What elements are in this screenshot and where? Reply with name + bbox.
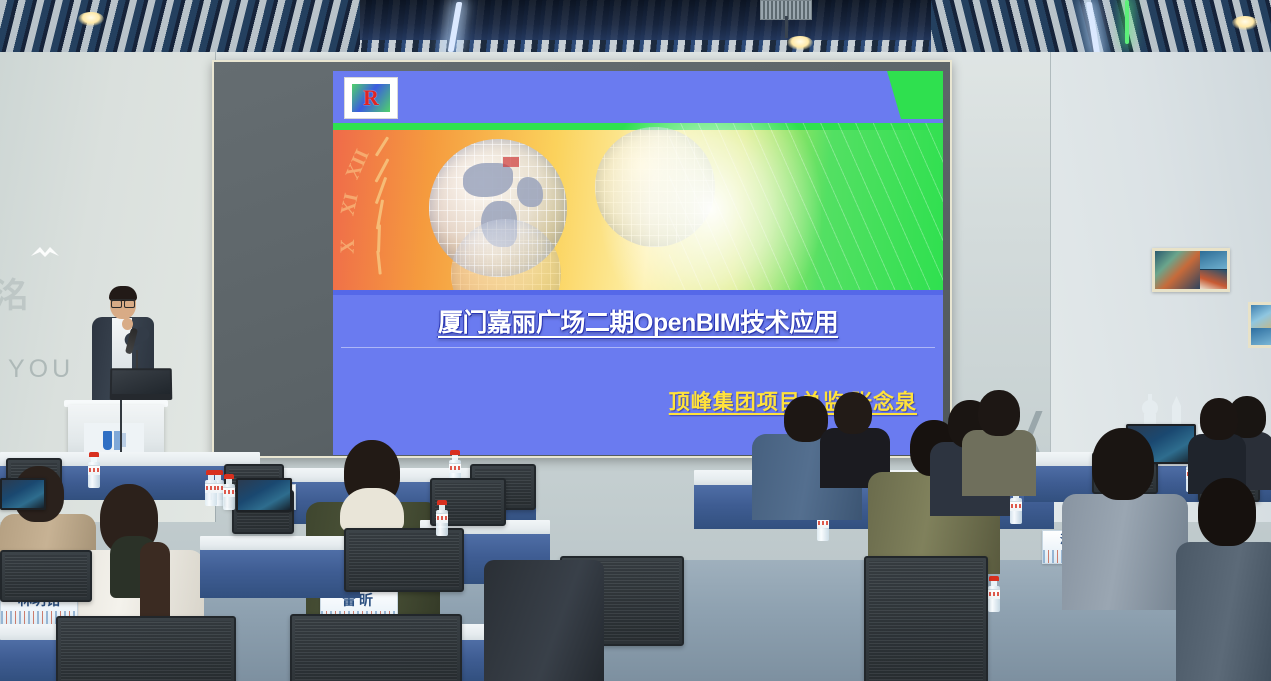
clock-graphic: XII XI X xyxy=(335,131,405,291)
wall-picture-frame-2 xyxy=(1248,302,1271,348)
water-bottle[interactable] xyxy=(988,576,1000,612)
banner-bottom-stripe xyxy=(333,290,943,295)
ceiling-light-green xyxy=(1125,0,1129,44)
slide-title: 厦门嘉丽广场二期OpenBIM技术应用 xyxy=(333,303,943,339)
ceiling-open-plenum xyxy=(330,0,950,40)
ceiling xyxy=(0,0,1271,58)
attendee xyxy=(1062,428,1188,608)
ceiling-drop-rod xyxy=(785,16,788,38)
water-bottle[interactable] xyxy=(223,474,235,510)
attendee xyxy=(962,390,1036,490)
ceiling-spotlight-right xyxy=(1232,16,1258,30)
wall-picture-frame-1 xyxy=(1152,248,1230,292)
water-bottle[interactable] xyxy=(88,452,100,488)
slide-title-text: 厦门嘉丽广场二期OpenBIM技术应用 xyxy=(438,309,838,337)
chair-mid[interactable] xyxy=(0,550,92,602)
chair-foreground[interactable] xyxy=(56,616,236,681)
banner-light-rays xyxy=(669,123,944,295)
water-bottle[interactable] xyxy=(205,470,217,506)
podium-mic-stand xyxy=(120,400,122,456)
chair-foreground[interactable] xyxy=(864,556,988,681)
conference-room-scene: 洺 YOU ❮ R XII XI xyxy=(0,0,1271,681)
attendee xyxy=(484,560,604,681)
seagull-icon xyxy=(30,245,60,261)
podium-laptop[interactable] xyxy=(110,368,173,400)
speaker-hand xyxy=(122,318,133,330)
desk-row-second-left xyxy=(200,536,360,550)
wall-chinese-mark: 洺 xyxy=(0,268,28,317)
ceiling-spotlight-center xyxy=(787,36,813,50)
speaker-glasses xyxy=(111,299,135,306)
slide-header-banner: XII XI X xyxy=(333,123,943,295)
water-bottle[interactable] xyxy=(436,500,448,536)
attendee-laptop[interactable] xyxy=(236,478,292,512)
chair-mid[interactable] xyxy=(344,528,464,592)
logo-letter: R xyxy=(363,87,379,109)
ceiling-slats-right xyxy=(931,0,1271,58)
ceiling-spotlight-left xyxy=(78,12,104,26)
attendee-laptop[interactable] xyxy=(0,478,46,510)
chair-foreground[interactable] xyxy=(290,614,462,681)
company-logo: R xyxy=(344,77,398,119)
ceiling-slats-left xyxy=(0,0,360,58)
attendee xyxy=(1176,478,1271,681)
desk-skirt-second-left xyxy=(200,550,360,598)
slide-green-corner xyxy=(901,71,943,119)
wall-text-you: YOU xyxy=(8,355,74,384)
slide-divider xyxy=(341,347,935,348)
attendee xyxy=(1188,398,1246,488)
